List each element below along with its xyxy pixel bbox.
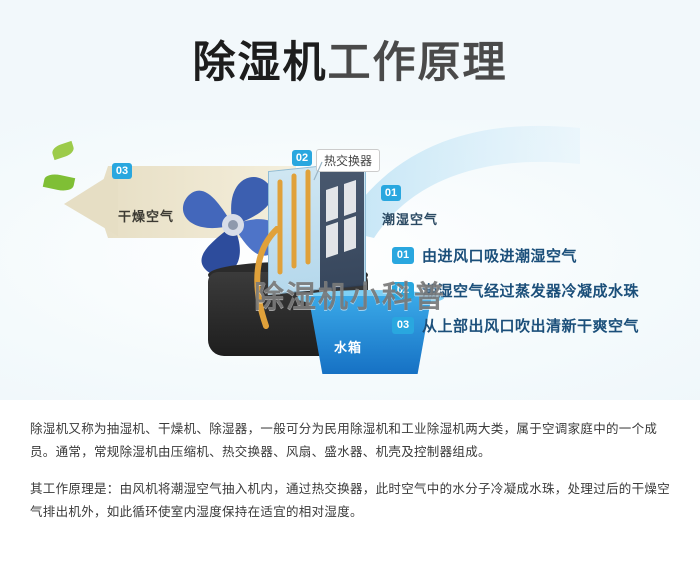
step-text: 由进风口吸进潮湿空气 <box>422 245 577 266</box>
step-item: 01 由进风口吸进潮湿空气 <box>392 245 692 266</box>
water-tank-label: 水箱 <box>334 337 362 356</box>
page-title-part2: 工作原理 <box>328 39 508 87</box>
moist-air-label: 潮湿空气 <box>382 209 438 228</box>
description-paragraph-2: 其工作原理是：由风机将潮湿空气抽入机内，通过热交换器，此时空气中的水分子冷凝成水… <box>30 478 670 524</box>
description-block: 除湿机又称为抽湿机、干燥机、除湿器，一般可分为民用除湿机和工业除湿机两大类，属于… <box>0 400 700 566</box>
page-title-part1: 除湿机 <box>193 39 328 87</box>
dry-air-label: 干燥空气 <box>118 206 174 225</box>
description-paragraph-1: 除湿机又称为抽湿机、干燥机、除湿器，一般可分为民用除湿机和工业除湿机两大类，属于… <box>30 418 670 464</box>
step-item: 03 从上部出风口吹出清新干爽空气 <box>392 315 692 336</box>
badge-01: 01 <box>381 185 401 201</box>
page-title: 除湿机工作原理 <box>0 28 700 90</box>
step-text: 从上部出风口吹出清新干爽空气 <box>422 315 639 336</box>
dry-air-arrowhead-icon <box>60 168 120 238</box>
step-number: 03 <box>392 317 414 334</box>
badge-03: 03 <box>112 163 132 179</box>
badge-02: 02 <box>292 150 312 166</box>
diagram-panel: 除湿机工作原理 干燥空气 <box>0 0 700 400</box>
airflow-arrow-icon <box>330 120 590 240</box>
watermark-text: 除湿机小科普 <box>0 272 700 316</box>
step-number: 01 <box>392 247 414 264</box>
infographic-page: 除湿机工作原理 干燥空气 <box>0 0 700 566</box>
